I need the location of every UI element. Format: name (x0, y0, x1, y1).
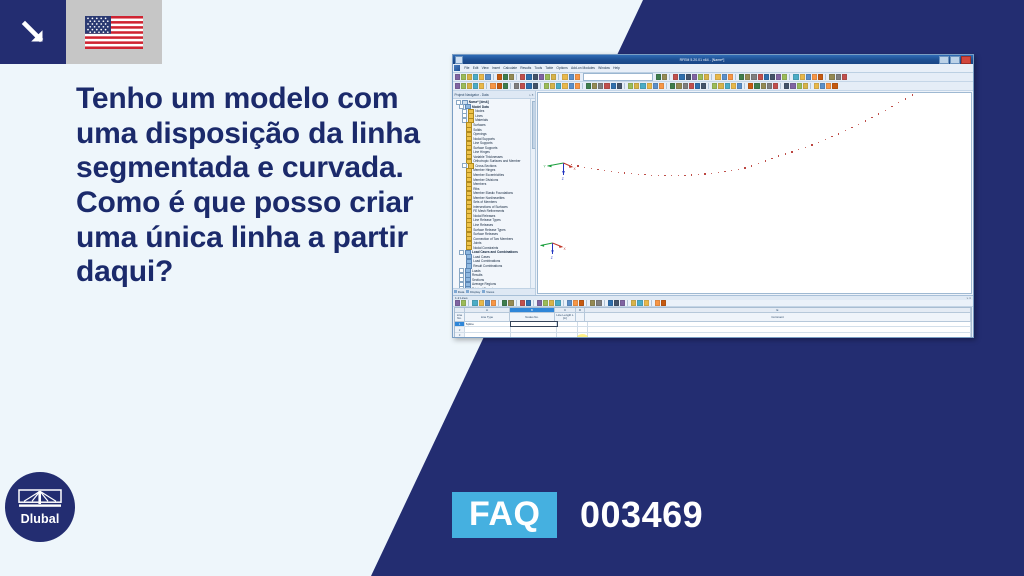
tree-item-label: Member Divisions (473, 178, 498, 182)
toolbar-icon[interactable] (647, 83, 652, 88)
tree-item-label: Sets of Members (473, 200, 497, 204)
toolbar-icon[interactable] (644, 300, 649, 305)
navigator-scroll-thumb[interactable] (532, 101, 535, 149)
menu-item-help[interactable]: Help (613, 66, 620, 70)
toolbar-icon[interactable] (670, 83, 675, 88)
svg-text:Z: Z (551, 256, 553, 260)
toolbar-icon[interactable] (502, 300, 507, 305)
toolbar-separator (468, 300, 470, 306)
navigator-tree[interactable]: Name* [desk]Model DataNodesLinesMaterial… (453, 99, 535, 288)
model-node-point (618, 172, 619, 173)
tree-item-label: Surface Supports (473, 146, 497, 150)
toolbar-icon[interactable] (550, 83, 555, 88)
toolbar-icon[interactable] (479, 74, 484, 79)
tree-item-label: Line Hinges (473, 150, 490, 154)
toolbar-icon[interactable] (806, 74, 811, 79)
maximize-button[interactable] (950, 56, 960, 64)
tree-item-label: Solids (473, 128, 482, 132)
toolbar-icon[interactable] (679, 74, 684, 79)
toolbar-icon[interactable] (637, 300, 642, 305)
toolbar-icon[interactable] (526, 74, 531, 79)
toolbar-icon[interactable] (722, 74, 727, 79)
toolbar-separator (486, 83, 488, 89)
toolbar-icon[interactable] (820, 83, 825, 88)
tree-item-label: Ribs (473, 187, 479, 191)
col-header-line-no: Line No. (455, 313, 465, 321)
cell-d[interactable] (578, 333, 588, 337)
col-letter-c[interactable]: C (555, 308, 576, 312)
toolbar-icon[interactable] (758, 74, 763, 79)
table-grid-wrapper: A B C D E Line No. Line Type Nodes No. L… (453, 307, 973, 338)
faq-label: FAQ (452, 492, 557, 538)
toolbar-icon[interactable] (473, 74, 478, 79)
toolbar-icon[interactable] (520, 300, 525, 305)
cell-line-length[interactable] (557, 333, 579, 337)
tree-item-label: Member Nonlinearities (473, 196, 504, 200)
tree-item-label: Nodes (475, 109, 484, 113)
navigator-tab-display-label: Display (470, 290, 480, 294)
tree-item-label: FE Mesh Refinements (473, 209, 504, 213)
toolbar-icon[interactable] (455, 300, 460, 305)
toolbar-separator (711, 74, 713, 80)
toolbar-icon[interactable] (575, 74, 580, 79)
table-panel: 1.2 Lines ⌁ × A B C D E Line No. (453, 295, 973, 338)
toolbar-combo[interactable] (583, 73, 653, 81)
tree-item-label: Joints (473, 241, 481, 245)
title-bar: RFEM 5.20.01 x64 - [Name*] (453, 55, 973, 64)
tree-item-label: Materials (475, 118, 488, 122)
toolbar-separator (744, 83, 746, 89)
tree-item-label: Line Releases (473, 223, 493, 227)
menu-item-options[interactable]: Options (556, 66, 567, 70)
toolbar-separator (604, 300, 606, 306)
toolbar-icon[interactable] (479, 83, 484, 88)
model-node-point (811, 144, 812, 145)
toolbar-icon[interactable] (773, 83, 778, 88)
toolbar-separator (498, 300, 500, 306)
toolbar-icon[interactable] (569, 83, 574, 88)
toolbar-icon[interactable] (776, 74, 781, 79)
col-letter-e[interactable]: E (585, 308, 971, 312)
toolbar-icon[interactable] (497, 83, 502, 88)
toolbar-icon[interactable] (826, 83, 831, 88)
toolbar-icon[interactable] (503, 74, 508, 79)
toolbar-icon[interactable] (829, 74, 834, 79)
column-name-header: Line No. Line Type Nodes No. Line Length… (455, 313, 971, 322)
toolbar-row-2[interactable] (453, 82, 973, 91)
toolbar-icon[interactable] (562, 83, 567, 88)
table-body[interactable]: 1Spline2345 (455, 322, 971, 338)
data-icon (454, 290, 457, 293)
toolbar-icon[interactable] (620, 300, 625, 305)
toolbar-separator (735, 74, 737, 80)
tree-item-label: Sections (472, 278, 484, 282)
navigator-tab-display[interactable]: Display (466, 290, 480, 294)
toolbar-row-1[interactable] (453, 73, 973, 82)
toolbar-icon[interactable] (800, 74, 805, 79)
cell-line-type[interactable] (465, 333, 511, 337)
tree-item-label: Lines (475, 114, 483, 118)
toolbar-icon[interactable] (712, 83, 717, 88)
toolbar-icon[interactable] (598, 83, 603, 88)
toolbar-icon[interactable] (573, 300, 578, 305)
navigator-tab-views[interactable]: Views (482, 290, 494, 294)
tree-item-label: Name* [desk] (469, 100, 489, 104)
toolbar-icon[interactable] (596, 300, 601, 305)
arrow-down-right-icon (0, 0, 66, 64)
toolbar-icon[interactable] (695, 83, 700, 88)
tree-item-label: Surfaces (473, 123, 485, 127)
col-header-comment: Comment (585, 313, 971, 321)
toolbar-icon[interactable] (551, 74, 556, 79)
toolbar-icon[interactable] (737, 83, 742, 88)
col-header-d (576, 313, 585, 321)
tree-item-label: Average Regions (472, 282, 496, 286)
toolbar-icon[interactable] (818, 74, 823, 79)
navigator-tabs[interactable]: Data Display Views (453, 288, 535, 296)
toolbar-icon[interactable] (461, 74, 466, 79)
lines-table[interactable]: A B C D E Line No. Line Type Nodes No. L… (454, 307, 972, 338)
toolbar-icon[interactable] (698, 74, 703, 79)
toolbar-icon[interactable] (479, 300, 484, 305)
us-flag-icon (85, 16, 143, 49)
language-flag-badge[interactable] (66, 0, 162, 64)
toolbar-icon[interactable] (526, 83, 531, 88)
cell-comment[interactable] (588, 322, 971, 326)
toolbar-icon[interactable] (533, 74, 538, 79)
tree-expander-icon[interactable] (459, 250, 464, 255)
toolbar-icon[interactable] (812, 74, 817, 79)
tree-item-label: Members (473, 182, 486, 186)
toolbar-icon[interactable] (586, 83, 591, 88)
toolbar-icon[interactable] (745, 74, 750, 79)
svg-text:Y: Y (544, 165, 547, 169)
model-node-point (658, 175, 659, 176)
toolbar-separator (582, 83, 584, 89)
tree-item-label: Load Cases (473, 255, 490, 259)
tree-item-label: Results (472, 273, 482, 277)
toolbar-icon[interactable] (782, 74, 787, 79)
menu-app-logo-icon (454, 65, 460, 71)
toolbar-icon[interactable] (555, 300, 560, 305)
toolbar-icon[interactable] (575, 83, 580, 88)
toolbar-icon[interactable] (569, 74, 574, 79)
toolbar-icon[interactable] (718, 83, 723, 88)
views-icon (482, 290, 485, 293)
toolbar-icon[interactable] (673, 74, 678, 79)
tree-item-label: Orthotropic Surfaces and Member (473, 159, 520, 163)
model-node-point (684, 175, 685, 176)
cell-line-no[interactable]: 3 (455, 333, 465, 337)
toolbar-icon[interactable] (490, 83, 495, 88)
col-header-nodes-no: Nodes No. (510, 313, 555, 321)
cell-d[interactable] (578, 322, 588, 326)
cell-line-type[interactable]: Spline (465, 322, 511, 326)
toolbar-separator (627, 300, 629, 306)
menu-item-edit[interactable]: Edit (473, 66, 479, 70)
menu-item-window[interactable]: Window (598, 66, 610, 70)
toolbar-icon[interactable] (842, 74, 847, 79)
model-node-point (765, 160, 766, 161)
tree-expander-icon[interactable] (459, 286, 464, 287)
table-row[interactable]: 3 (455, 333, 971, 338)
tree-item-label: Cross-Sections (475, 164, 496, 168)
toolbar-separator (540, 83, 542, 89)
cell-comment[interactable] (588, 333, 971, 337)
toolbar-separator (669, 74, 671, 80)
toolbar-separator (558, 74, 560, 80)
rfem-application-window: RFEM 5.20.01 x64 - [Name*] File Edit Vie… (452, 54, 974, 338)
model-viewport[interactable]: Y Z X Z (537, 92, 972, 294)
model-node-point (577, 165, 578, 166)
page-title: Tenho um modelo com uma disposição da li… (76, 82, 426, 290)
logo-wordmark: Dlubal (21, 512, 60, 526)
menu-item-table[interactable]: Table (545, 66, 553, 70)
minimize-button[interactable] (939, 56, 949, 64)
toolbar-icon[interactable] (485, 300, 490, 305)
model-node-point (785, 153, 786, 154)
toolbar-icon[interactable] (628, 83, 633, 88)
toolbar-icon[interactable] (611, 83, 616, 88)
tree-item-label: Line Release Types (473, 218, 501, 222)
toolbar-separator (586, 300, 588, 306)
cell-nodes-no[interactable] (511, 322, 557, 326)
toolbar-icon[interactable] (543, 300, 548, 305)
toolbar-icon[interactable] (748, 83, 753, 88)
toolbar-icon[interactable] (761, 83, 766, 88)
toolbar-icon[interactable] (784, 83, 789, 88)
cell-line-no[interactable]: 2 (455, 327, 465, 331)
tree-item-label: Result Combinations (473, 264, 502, 268)
toolbar-icon[interactable] (655, 300, 660, 305)
toolbar-icon[interactable] (514, 83, 519, 88)
toolbar-icon[interactable] (461, 83, 466, 88)
toolbar-icon[interactable] (686, 74, 691, 79)
toolbar-icon[interactable] (549, 300, 554, 305)
toolbar-icon[interactable] (592, 83, 597, 88)
toolbar-separator (510, 83, 512, 89)
toolbar-icon[interactable] (656, 74, 661, 79)
toolbar-icon[interactable] (467, 83, 472, 88)
blue-folder-icon (465, 286, 471, 287)
toolbar-icon[interactable] (797, 83, 802, 88)
toolbar-icon[interactable] (539, 74, 544, 79)
toolbar-icon[interactable] (832, 83, 837, 88)
toolbar-icon[interactable] (704, 74, 709, 79)
tree-item-label: Loads (472, 269, 481, 273)
model-node-point (805, 147, 806, 148)
toolbar-icon[interactable] (473, 83, 478, 88)
navigator-pin-close-icons[interactable]: ⌁ × (529, 93, 534, 97)
tree-item-label: Variable Thicknesses (473, 155, 503, 159)
toolbar-icon[interactable] (653, 83, 658, 88)
menu-item-tools[interactable]: Tools (534, 66, 542, 70)
model-node-point (771, 158, 772, 159)
tree-item-label: Model Data (472, 105, 489, 109)
app-icon (455, 56, 463, 64)
toolbar-icon[interactable] (509, 74, 514, 79)
dlubal-logo: Dlubal (5, 472, 75, 542)
toolbar-icon[interactable] (751, 74, 756, 79)
navigator-header: Project Navigator - Data ⌁ × (453, 91, 535, 99)
toolbar-icon[interactable] (545, 74, 550, 79)
col-header-line-type: Line Type (465, 313, 510, 321)
tree-item-label: Member Hinges (473, 168, 495, 172)
work-area: Project Navigator - Data ⌁ × Name* [desk… (453, 91, 973, 295)
tree-item-label: Member Elastic Foundations (473, 191, 513, 195)
toolbar-icon[interactable] (692, 74, 697, 79)
toolbar-icon[interactable] (640, 83, 645, 88)
faq-number: 003469 (580, 493, 703, 537)
toolbar-separator (666, 83, 668, 89)
toolbar-icon[interactable] (461, 300, 466, 305)
toolbar-icon[interactable] (836, 74, 841, 79)
toolbar-icon[interactable] (467, 74, 472, 79)
toolbar-icon[interactable] (567, 300, 572, 305)
toolbar-separator (493, 74, 495, 80)
tree-item-label: Connection of Two Members (473, 237, 513, 241)
toolbar-icon[interactable] (803, 83, 808, 88)
toolbar-icon[interactable] (614, 300, 619, 305)
toolbar-separator (708, 83, 710, 89)
menu-item-results[interactable]: Results (520, 66, 531, 70)
svg-text:Z: Z (562, 177, 564, 181)
tree-item-label: Nodal Supports (473, 137, 495, 141)
display-icon (466, 290, 469, 293)
toolbar-icon[interactable] (676, 83, 681, 88)
toolbar-icon[interactable] (793, 74, 798, 79)
close-button[interactable] (961, 56, 971, 64)
toolbar-icon[interactable] (526, 300, 531, 305)
toolbar-icon[interactable] (455, 83, 460, 88)
menu-bar[interactable]: File Edit View Insert Calculate Results … (453, 64, 973, 73)
table-toolbar[interactable] (453, 300, 973, 307)
toolbar-icon[interactable] (662, 74, 667, 79)
toolbar-icon[interactable] (455, 74, 460, 79)
toolbar-separator (825, 74, 827, 80)
cell-nodes-no[interactable] (511, 333, 557, 337)
toolbar-icon[interactable] (520, 74, 525, 79)
toolbar-icon[interactable] (533, 83, 538, 88)
toolbar-icon[interactable] (634, 83, 639, 88)
toolbar-icon[interactable] (754, 83, 759, 88)
toolbar-icon[interactable] (579, 300, 584, 305)
toolbar-separator (810, 83, 812, 89)
menu-item-insert[interactable]: Insert (492, 66, 500, 70)
toolbar-icon[interactable] (472, 300, 477, 305)
toolbar-icon[interactable] (770, 74, 775, 79)
toolbar-icon[interactable] (701, 83, 706, 88)
col-letter-d[interactable]: D (576, 308, 585, 312)
toolbar-icon[interactable] (608, 300, 613, 305)
toolbar-icon[interactable] (604, 83, 609, 88)
truss-bridge-icon (18, 489, 62, 510)
cell-line-length[interactable] (557, 322, 579, 326)
menu-item-calculate[interactable]: Calculate (503, 66, 517, 70)
window-controls[interactable] (939, 56, 971, 64)
cell-line-no[interactable]: 1 (455, 322, 465, 326)
toolbar-icon[interactable] (764, 74, 769, 79)
model-node-point (912, 94, 913, 95)
navigator-tab-data[interactable]: Data (454, 290, 464, 294)
toolbar-icon[interactable] (725, 83, 730, 88)
toolbar-icon[interactable] (731, 83, 736, 88)
col-letter-b[interactable]: B (510, 308, 555, 312)
axis-triad-origin: Y Z X (544, 163, 577, 181)
col-letter-corner (455, 308, 465, 312)
navigator-tab-data-label: Data (458, 290, 465, 294)
window-title: RFEM 5.20.01 x64 - [Name*] (465, 58, 939, 62)
navigator-scrollbar[interactable] (530, 99, 535, 288)
svg-text:X: X (574, 167, 577, 171)
cell-nodes-no[interactable] (511, 327, 557, 331)
tree-item-label: Load Combinations (473, 259, 500, 263)
toolbar-icon[interactable] (814, 83, 819, 88)
toolbar-icon[interactable] (520, 83, 525, 88)
toolbar-icon[interactable] (661, 300, 666, 305)
tree-item-label: Printout Reports (472, 287, 495, 288)
tree-item[interactable]: Printout Reports (454, 286, 535, 287)
toolbar-icon[interactable] (728, 74, 733, 79)
navigator-tab-views-label: Views (486, 290, 494, 294)
toolbar-icon[interactable] (631, 300, 636, 305)
menu-item-addon-modules[interactable]: Add-on Modules (571, 66, 595, 70)
toolbar-icon[interactable] (739, 74, 744, 79)
toolbar-icon[interactable] (617, 83, 622, 88)
navigator-title: Project Navigator - Data (455, 93, 489, 97)
toolbar-separator (624, 83, 626, 89)
project-navigator: Project Navigator - Data ⌁ × Name* [desk… (453, 91, 536, 295)
col-letter-a[interactable]: A (465, 308, 510, 312)
toolbar-separator (516, 74, 518, 80)
tree-item-label: Surface Release Types (473, 228, 505, 232)
toolbar-separator (563, 300, 565, 306)
tree-item-label: Member Eccentricities (473, 173, 504, 177)
toolbar-separator (516, 300, 518, 306)
faq-card: Tenho um modelo com uma disposição da li… (0, 0, 1024, 576)
toolbar-icon[interactable] (590, 300, 595, 305)
toolbar-icon[interactable] (503, 83, 508, 88)
cell-d[interactable] (578, 327, 588, 331)
toolbar-icon[interactable] (544, 83, 549, 88)
tree-item-label: Line Supports (473, 141, 492, 145)
axis-triad-secondary: Z X (541, 243, 567, 260)
toolbar-icon[interactable] (497, 74, 502, 79)
toolbar-icon[interactable] (537, 300, 542, 305)
menu-item-file[interactable]: File (464, 66, 469, 70)
cell-comment[interactable] (588, 327, 971, 331)
toolbar-icon[interactable] (715, 74, 720, 79)
toolbar-icon[interactable] (659, 83, 664, 88)
toolbar-icon[interactable] (683, 83, 688, 88)
toolbar-icon[interactable] (562, 74, 567, 79)
cell-line-length[interactable] (557, 327, 579, 331)
cell-line-type[interactable] (465, 327, 511, 331)
model-node-point (704, 173, 705, 174)
toolbar-icon[interactable] (689, 83, 694, 88)
toolbar-icon[interactable] (790, 83, 795, 88)
model-node-point (638, 174, 639, 175)
toolbar-icon[interactable] (556, 83, 561, 88)
toolbar-icon[interactable] (491, 300, 496, 305)
toolbar-icon[interactable] (767, 83, 772, 88)
toolbar-icon[interactable] (485, 74, 490, 79)
menu-item-view[interactable]: View (482, 66, 489, 70)
toolbar-separator (780, 83, 782, 89)
tree-item-label: Surface Releases (473, 232, 498, 236)
toolbar-icon[interactable] (508, 300, 513, 305)
tree-item-label: Nodal Releases (473, 214, 495, 218)
